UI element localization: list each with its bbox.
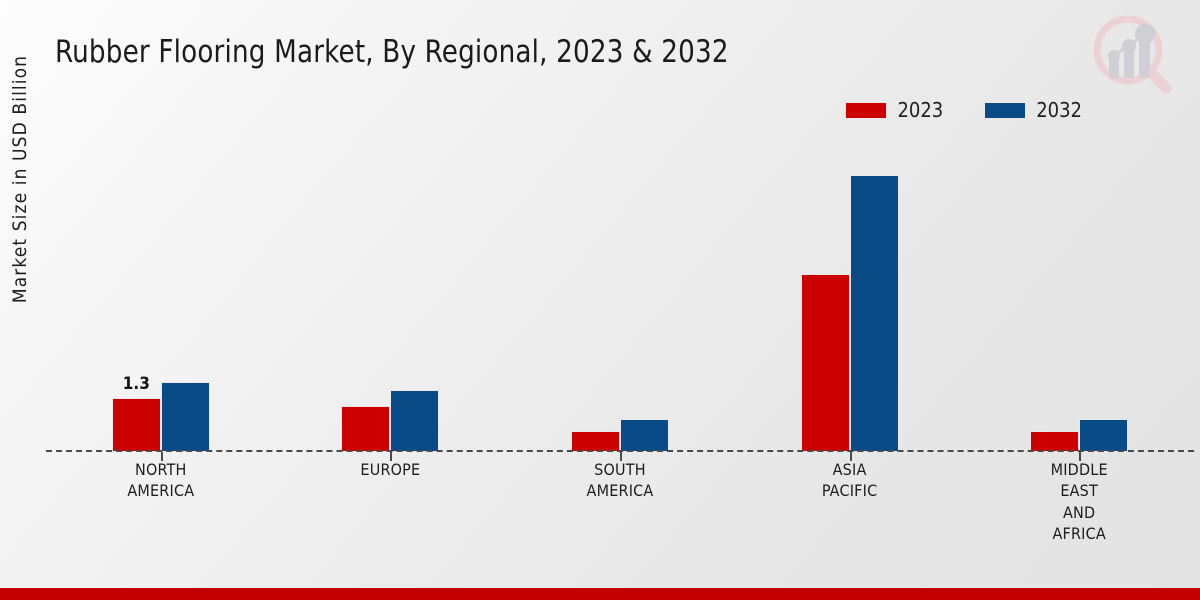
bar-group bbox=[276, 150, 506, 452]
bar-pair bbox=[571, 150, 669, 452]
x-axis-category-label: EUROPE bbox=[276, 459, 506, 544]
x-axis-category-label: MIDDLEEASTANDAFRICA bbox=[964, 459, 1194, 544]
category-label-line: ASIA bbox=[735, 459, 965, 480]
category-label-line: PACIFIC bbox=[735, 480, 965, 501]
bar-group bbox=[505, 150, 735, 452]
x-axis-category-labels: NORTHAMERICAEUROPESOUTHAMERICAASIAPACIFI… bbox=[46, 459, 1194, 544]
category-label-line: MIDDLE bbox=[964, 459, 1194, 480]
legend-label-2023: 2023 bbox=[897, 100, 943, 120]
y-axis-title: Market Size in USD Billion bbox=[9, 14, 31, 344]
chart-title: Rubber Flooring Market, By Regional, 202… bbox=[55, 34, 729, 70]
bar-2032[interactable] bbox=[620, 419, 669, 452]
bar-group bbox=[735, 150, 965, 452]
bar-2032[interactable] bbox=[390, 390, 439, 452]
bar-2032[interactable] bbox=[850, 175, 899, 452]
bar-2032[interactable] bbox=[161, 382, 210, 452]
bar-group bbox=[964, 150, 1194, 452]
bar-2023[interactable] bbox=[801, 274, 850, 452]
bar-2023[interactable] bbox=[341, 406, 390, 452]
bar-value-label: 1.3 bbox=[123, 374, 150, 394]
legend-swatch-2032 bbox=[985, 103, 1025, 118]
watermark-logo bbox=[1078, 8, 1186, 100]
bar-pair bbox=[1030, 150, 1128, 452]
bar-groups: 1.3 bbox=[46, 150, 1194, 452]
x-axis-baseline bbox=[46, 450, 1194, 452]
chart-canvas: Rubber Flooring Market, By Regional, 202… bbox=[0, 0, 1200, 600]
legend-swatch-2023 bbox=[846, 103, 886, 118]
footer-accent-bar bbox=[0, 588, 1200, 600]
bar-pair: 1.3 bbox=[112, 150, 210, 452]
bar-2023[interactable] bbox=[571, 431, 620, 452]
legend-item-2032[interactable]: 2032 bbox=[985, 100, 1082, 120]
legend-label-2032: 2032 bbox=[1036, 100, 1082, 120]
category-label-line: AMERICA bbox=[46, 480, 276, 501]
bar-pair bbox=[341, 150, 439, 452]
x-axis-category-label: ASIAPACIFIC bbox=[735, 459, 965, 544]
chart-legend: 2023 2032 bbox=[846, 100, 1082, 120]
category-label-line: NORTH bbox=[46, 459, 276, 480]
bar-pair bbox=[801, 150, 899, 452]
category-label-line: EUROPE bbox=[276, 459, 506, 480]
category-label-line: SOUTH bbox=[505, 459, 735, 480]
category-label-line: AND bbox=[964, 502, 1194, 523]
legend-item-2023[interactable]: 2023 bbox=[846, 100, 943, 120]
x-axis-category-label: SOUTHAMERICA bbox=[505, 459, 735, 544]
bar-2023[interactable]: 1.3 bbox=[112, 398, 161, 452]
category-label-line: AFRICA bbox=[964, 523, 1194, 544]
category-label-line: AMERICA bbox=[505, 480, 735, 501]
bar-2032[interactable] bbox=[1079, 419, 1128, 452]
bar-group: 1.3 bbox=[46, 150, 276, 452]
bar-2023[interactable] bbox=[1030, 431, 1079, 452]
x-axis-category-label: NORTHAMERICA bbox=[46, 459, 276, 544]
plot-area: 1.3 bbox=[46, 150, 1194, 452]
category-label-line: EAST bbox=[964, 480, 1194, 501]
